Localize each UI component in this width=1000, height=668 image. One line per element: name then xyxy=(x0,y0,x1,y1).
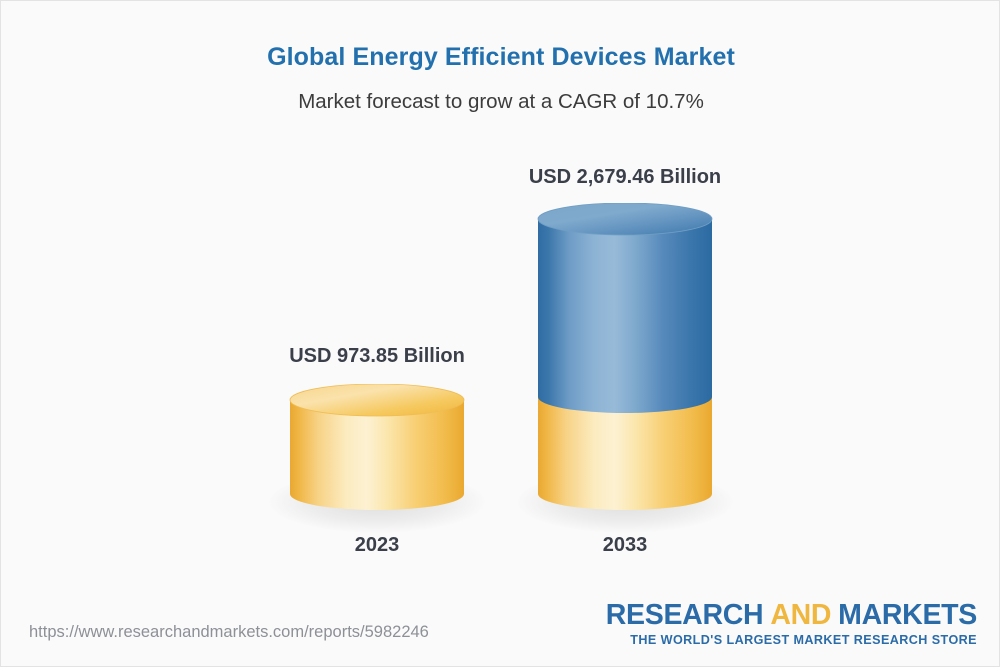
bar-2023-value-label: USD 973.85 Billion xyxy=(247,345,507,368)
chart-canvas: Global Energy Efficient Devices Market M… xyxy=(0,0,1000,667)
logo-word-research: RESEARCH xyxy=(606,599,764,631)
bar-2023-category-label: 2023 xyxy=(247,534,507,557)
logo-wordmark: RESEARCHANDMARKETS xyxy=(606,601,977,630)
research-and-markets-logo[interactable]: RESEARCHANDMARKETS THE WORLD'S LARGEST M… xyxy=(606,601,977,647)
bar-2033-cylinder[interactable] xyxy=(534,203,716,518)
bar-2033-category-label: 2033 xyxy=(495,534,755,557)
bar-2023-cylinder[interactable] xyxy=(286,384,468,518)
chart-plot-area: USD 973.85 Billion 2023 xyxy=(1,1,1000,668)
logo-word-markets: MARKETS xyxy=(838,599,977,631)
logo-word-and: AND xyxy=(770,599,831,631)
bar-2033-value-label: USD 2,679.46 Billion xyxy=(495,166,755,189)
logo-tagline: THE WORLD'S LARGEST MARKET RESEARCH STOR… xyxy=(606,633,977,647)
source-url[interactable]: https://www.researchandmarkets.com/repor… xyxy=(29,623,429,642)
